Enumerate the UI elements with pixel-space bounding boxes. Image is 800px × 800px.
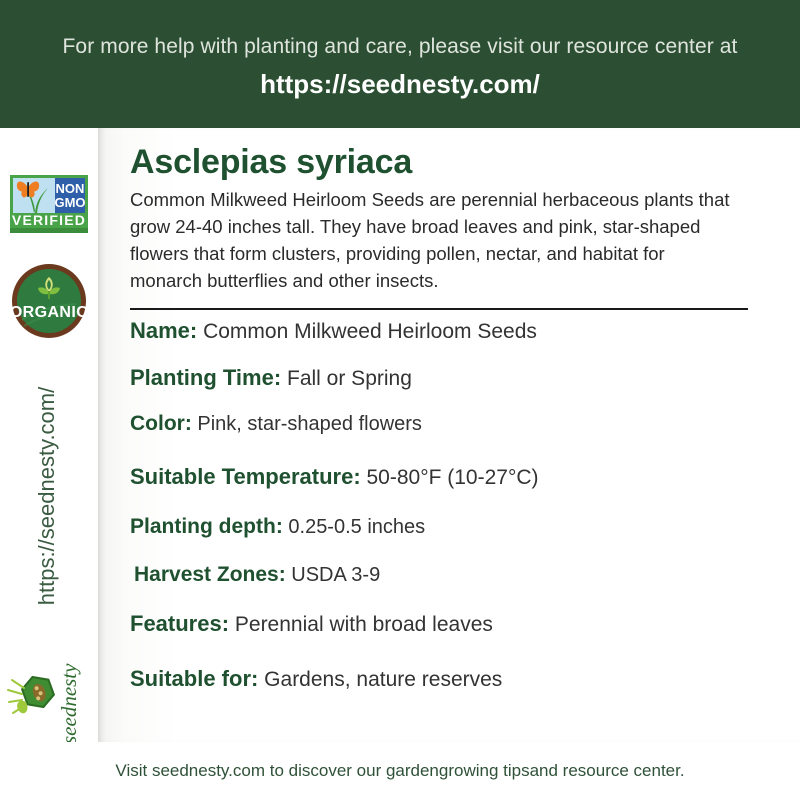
spec-row: Suitable for: Gardens, nature reserves (130, 665, 750, 693)
plant-description: Common Milkweed Heirloom Seeds are peren… (130, 187, 730, 294)
spec-label: Name: (130, 318, 197, 343)
spec-label: Harvest Zones: (134, 563, 286, 586)
plant-title: Asclepias syriaca (130, 144, 750, 181)
non-gmo-verified-badge: NON GMO VERIFIED (8, 173, 90, 235)
sidebar-vertical-url[interactable]: https://seednesty.com/ (34, 371, 60, 621)
organic-badge-icon: ORGANIC (10, 262, 88, 340)
spec-label: Planting Time: (130, 365, 281, 390)
left-sidebar: NON GMO VERIFIED OR (0, 128, 98, 800)
spec-row: Suitable Temperature: 50-80°F (10-27°C) (130, 463, 750, 491)
spec-value: Pink, star-shaped flowers (192, 413, 422, 435)
footer-bar: Visit seednesty.com to discover our gard… (0, 742, 800, 800)
svg-text:ORGANIC: ORGANIC (10, 304, 88, 321)
spec-list: Name: Common Milkweed Heirloom SeedsPlan… (130, 317, 750, 694)
spec-row: Features: Perennial with broad leaves (130, 610, 750, 638)
svg-text:seednesty: seednesty (57, 663, 81, 744)
spec-value: 50-80°F (10-27°C) (361, 466, 539, 489)
spec-row: Color: Pink, star-shaped flowers (130, 411, 750, 437)
card-content: Asclepias syriaca Common Milkweed Heirlo… (130, 128, 750, 694)
spec-label: Color: (130, 412, 192, 435)
seed-packet-label: For more help with planting and care, pl… (0, 0, 800, 800)
section-divider (130, 308, 748, 310)
spec-value: Gardens, nature reserves (258, 668, 502, 691)
footer-text: Visit seednesty.com to discover our gard… (115, 761, 684, 781)
seed-pod-icon: seednesty (4, 658, 96, 750)
spec-label: Planting depth: (130, 515, 283, 538)
spec-value: 0.25-0.5 inches (283, 516, 425, 538)
spec-row: Harvest Zones: USDA 3-9 (134, 562, 750, 588)
header-url[interactable]: https://seednesty.com/ (260, 69, 540, 100)
svg-text:NON: NON (56, 181, 85, 196)
svg-text:GMO: GMO (54, 195, 85, 210)
organic-badge: ORGANIC (10, 262, 88, 340)
spec-label: Suitable Temperature: (130, 464, 361, 489)
brand-logo: seednesty (4, 658, 96, 750)
spec-value: USDA 3-9 (286, 564, 380, 586)
spec-row: Planting depth: 0.25-0.5 inches (130, 514, 750, 540)
header-banner: For more help with planting and care, pl… (0, 0, 800, 128)
info-card: Asclepias syriaca Common Milkweed Heirlo… (98, 128, 800, 742)
spec-label: Features: (130, 611, 229, 636)
spec-value: Perennial with broad leaves (229, 613, 493, 636)
spec-row: Planting Time: Fall or Spring (130, 364, 750, 392)
spec-row: Name: Common Milkweed Heirloom Seeds (130, 317, 750, 345)
spec-label: Suitable for: (130, 666, 258, 691)
header-tagline: For more help with planting and care, pl… (63, 34, 738, 59)
svg-text:VERIFIED: VERIFIED (12, 212, 86, 228)
non-gmo-badge-icon: NON GMO VERIFIED (8, 173, 90, 235)
spec-value: Fall or Spring (281, 367, 412, 390)
spec-value: Common Milkweed Heirloom Seeds (197, 320, 537, 343)
